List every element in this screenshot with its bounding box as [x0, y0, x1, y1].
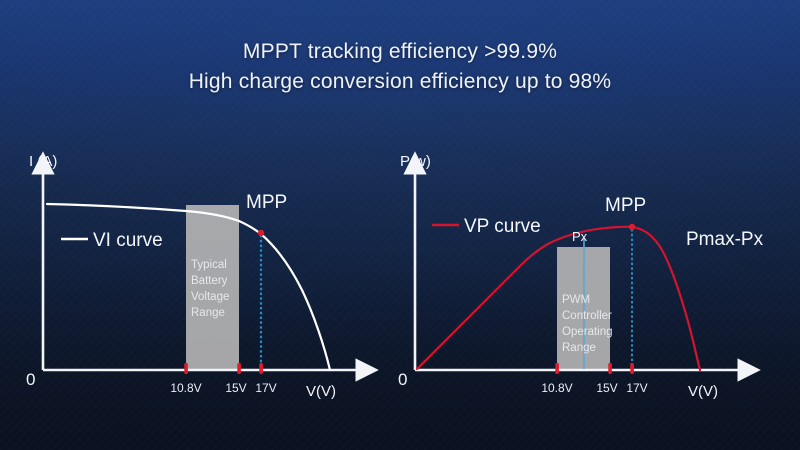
vp-px-label: Px	[572, 229, 588, 244]
pmax-minus-px-label: Pmax-Px	[686, 229, 764, 250]
vp-band-label-line-1: Controller	[562, 310, 612, 322]
vp-band-label-line-3: Range	[562, 342, 596, 354]
vp-legend-label: VP curve	[464, 216, 541, 237]
vp-x-axis-label: V(V)	[688, 383, 718, 400]
vp-chart: P(w) V(V) 0 10.8V 15V 17V VP curve MPP P…	[0, 0, 800, 450]
vp-band-label-line-2: Operating	[562, 326, 613, 338]
vp-xtick-marker-2	[630, 363, 634, 374]
vp-band-label-line-0: PWM	[562, 294, 590, 306]
slide-canvas: MPPT tracking efficiency >99.9% High cha…	[0, 0, 800, 450]
vp-origin-label: 0	[398, 370, 407, 389]
vp-mpp-marker	[629, 224, 635, 230]
vp-xtick-label-0: 10.8V	[541, 381, 572, 395]
vp-xtick-label-1: 15V	[596, 381, 617, 395]
vp-xtick-marker-1	[608, 363, 612, 374]
vp-y-axis-label: P(w)	[400, 153, 431, 170]
vp-mpp-label: MPP	[605, 195, 646, 216]
vp-xtick-label-2: 17V	[626, 381, 647, 395]
vp-xtick-marker-0	[555, 363, 559, 374]
